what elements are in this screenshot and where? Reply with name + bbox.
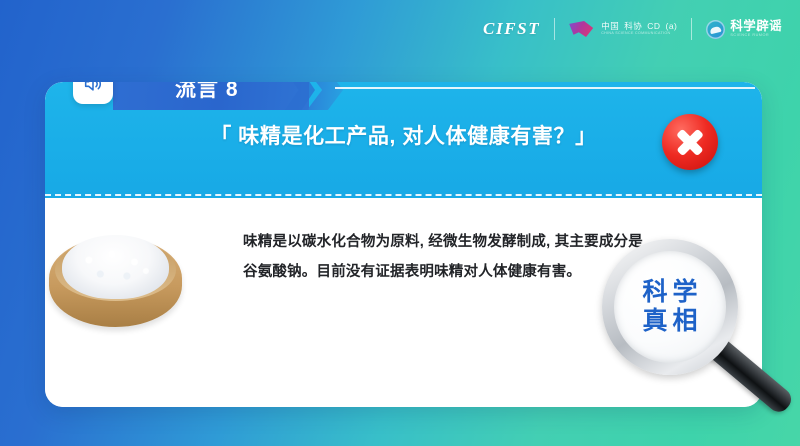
csc-cn-row: 中国 科协 CD (a) <box>601 22 677 31</box>
kexue-piyao-logo-text: 科学辟谣 SCIENCE RUMOR <box>730 20 782 37</box>
ribbon-rule <box>335 87 755 89</box>
brand-bar: CIFST 中国 科协 CD (a) CHINA SCIENCE COMMUNI… <box>0 0 800 58</box>
csc-en-line: CHINA SCIENCE COMMUNICATION <box>601 32 677 36</box>
magnifier-ring: 科学 真相 <box>602 239 738 375</box>
kexue-piyao-mark-icon <box>706 20 725 39</box>
csc-logo-text: 中国 科协 CD (a) CHINA SCIENCE COMMUNICATION <box>601 22 677 35</box>
kexue-piyao-logo: 科学辟谣 SCIENCE RUMOR <box>706 20 782 39</box>
msg-crystals-shape <box>62 235 169 299</box>
bird-icon <box>569 19 595 39</box>
rumor-number-label: 流言 8 <box>175 82 239 109</box>
scientific-truth-line-2: 真相 <box>637 308 702 336</box>
cross-icon <box>662 114 718 170</box>
csc-cn-2: CD <box>647 22 660 31</box>
csc-cn-0: 中国 <box>601 22 619 31</box>
brand-divider-1 <box>554 18 555 40</box>
csc-cn-1: 科协 <box>624 22 642 31</box>
magnifier-lens: 科学 真相 <box>614 251 726 363</box>
cifst-logo-text: CIFST <box>483 19 540 39</box>
dashed-separator <box>45 194 762 196</box>
rumor-headline: 「 味精是化工产品, 对人体健康有害？」 <box>45 120 762 150</box>
brand-divider-2 <box>691 18 692 40</box>
kexue-piyao-cn: 科学辟谣 <box>730 20 782 33</box>
speaker-icon <box>73 82 113 104</box>
csc-cn-3: (a) <box>666 22 678 31</box>
explanation-text: 味精是以碳水化合物为原料, 经微生物发酵制成, 其主要成分是谷氨酸钠。目前没有证… <box>243 228 643 287</box>
scientific-truth-line-1: 科学 <box>637 279 702 307</box>
msg-bowl-image <box>49 225 184 330</box>
magnifier-graphic: 科学 真相 <box>598 235 788 415</box>
kexue-piyao-en: SCIENCE RUMOR <box>730 34 782 38</box>
china-science-communication-logo: 中国 科协 CD (a) CHINA SCIENCE COMMUNICATION <box>569 19 677 39</box>
